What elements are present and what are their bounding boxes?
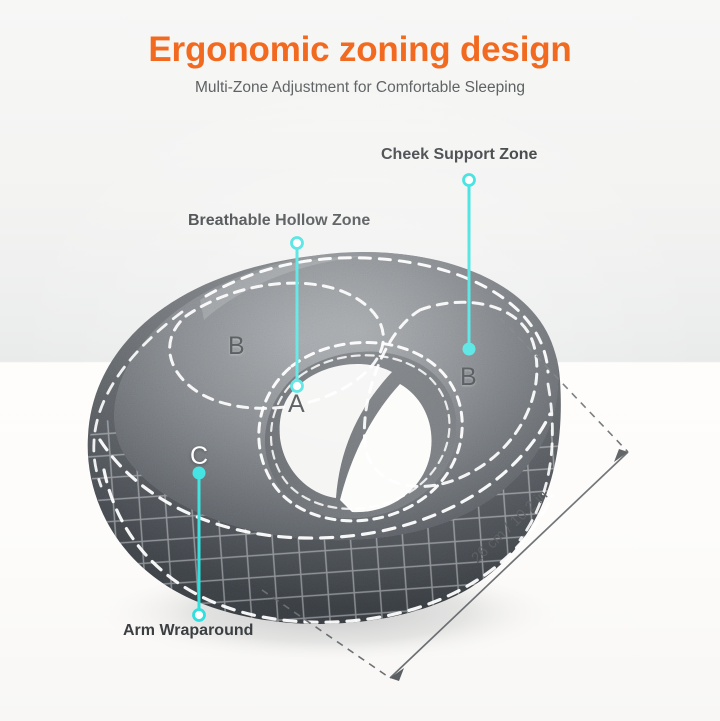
callout-leader-cheek-support-zone — [464, 175, 475, 355]
page-title: Ergonomic zoning design — [0, 30, 720, 70]
callout-leaders — [0, 0, 720, 721]
callout-label-arm-wraparound: Arm Wraparound — [123, 622, 253, 640]
open-circle-icon — [292, 381, 303, 392]
callout-label-cheek-support-zone: Cheek Support Zone — [381, 146, 537, 164]
callout-label-breathable-hollow-zone: Breathable Hollow Zone — [188, 212, 370, 230]
open-circle-icon — [464, 175, 475, 186]
page-subtitle: Multi-Zone Adjustment for Comfortable Sl… — [0, 79, 720, 97]
infographic-page: B A B C 26 cm / 10.2 in — [0, 0, 720, 721]
filled-circle-icon — [194, 468, 205, 479]
open-circle-icon — [292, 238, 303, 249]
callout-leader-breathable-hollow-zone — [292, 238, 303, 392]
callout-leader-arm-wraparound — [194, 468, 205, 621]
filled-circle-icon — [464, 344, 475, 355]
open-circle-icon — [194, 610, 205, 621]
